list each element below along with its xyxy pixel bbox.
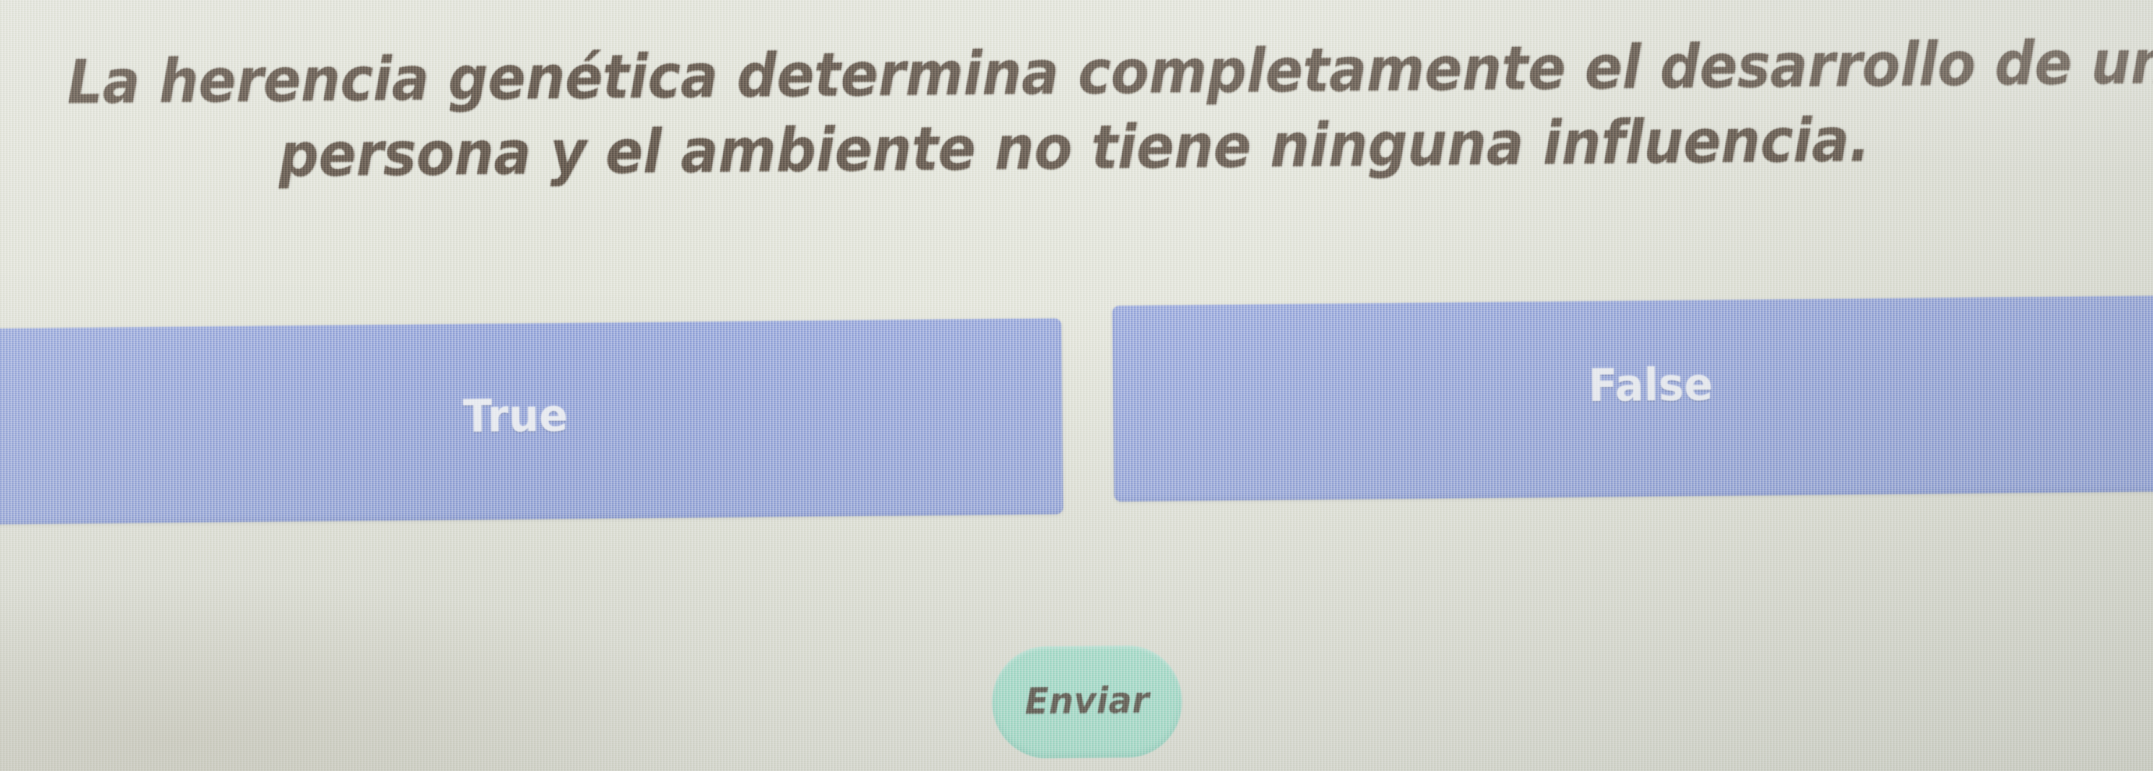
question-text: La herencia genética determina completam… [67,26,2081,195]
answer-option-true-label: True [463,389,568,443]
capture-blur-layer: La herencia genética determina completam… [0,0,2153,771]
submit-button[interactable]: Enviar [991,645,1182,759]
answer-option-false[interactable]: False [1112,294,2153,502]
content-plane: La herencia genética determina completam… [0,0,2153,771]
quiz-screen: La herencia genética determina completam… [0,0,2153,771]
answer-option-false-label: False [1588,358,1713,412]
answer-option-true[interactable]: True [0,318,1063,526]
